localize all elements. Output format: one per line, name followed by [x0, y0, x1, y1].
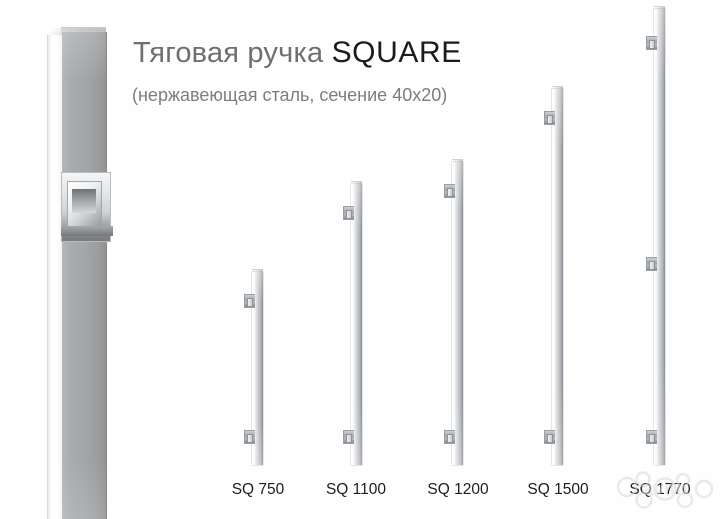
handle-mount-lower: [646, 430, 657, 444]
handle-sq-1200: [452, 162, 463, 465]
page-title-prefix: Тяговая ручка: [133, 37, 332, 69]
hero-bracket-slot: [72, 189, 96, 213]
hero-face-left: [47, 35, 63, 519]
handle-mount-upper: [444, 184, 455, 198]
label-sq-1500: SQ 1500: [508, 481, 608, 499]
handle-mount-middle: [646, 257, 657, 271]
handle-mount-lower: [244, 430, 255, 444]
product-image-canvas: Тяговая ручка SQUARE (нержавеющая сталь,…: [0, 0, 720, 519]
handle-mount-upper: [244, 294, 255, 308]
label-sq-750: SQ 750: [208, 481, 308, 499]
label-sq-1770: SQ 1770: [610, 481, 710, 499]
handle-bar: [552, 89, 563, 465]
handle-sq-750: [252, 272, 263, 465]
handle-bar: [654, 9, 665, 465]
handle-sq-1770: [654, 9, 665, 465]
hero-face-main: [62, 32, 107, 519]
hero-bracket-lip: [61, 226, 113, 236]
label-sq-1200: SQ 1200: [408, 481, 508, 499]
handle-sq-1100: [351, 184, 362, 465]
handle-mount-lower: [444, 430, 455, 444]
handle-mount-upper: [544, 111, 555, 125]
handle-sq-1500: [552, 89, 563, 465]
handle-mount-upper: [343, 206, 354, 220]
hero-handle-closeup: [47, 27, 106, 519]
page-title: Тяговая ручка SQUARE: [133, 36, 462, 70]
handle-mount-lower: [343, 430, 354, 444]
handle-bar: [351, 184, 362, 465]
handle-mount-lower: [544, 430, 555, 444]
page-subtitle: (нержавеющая сталь, сечение 40x20): [132, 84, 447, 106]
label-sq-1100: SQ 1100: [306, 481, 406, 499]
handle-mount-upper: [646, 36, 657, 50]
handle-bar: [452, 162, 463, 465]
page-title-brand: SQUARE: [332, 36, 462, 69]
hero-mount-bracket: [61, 172, 109, 240]
